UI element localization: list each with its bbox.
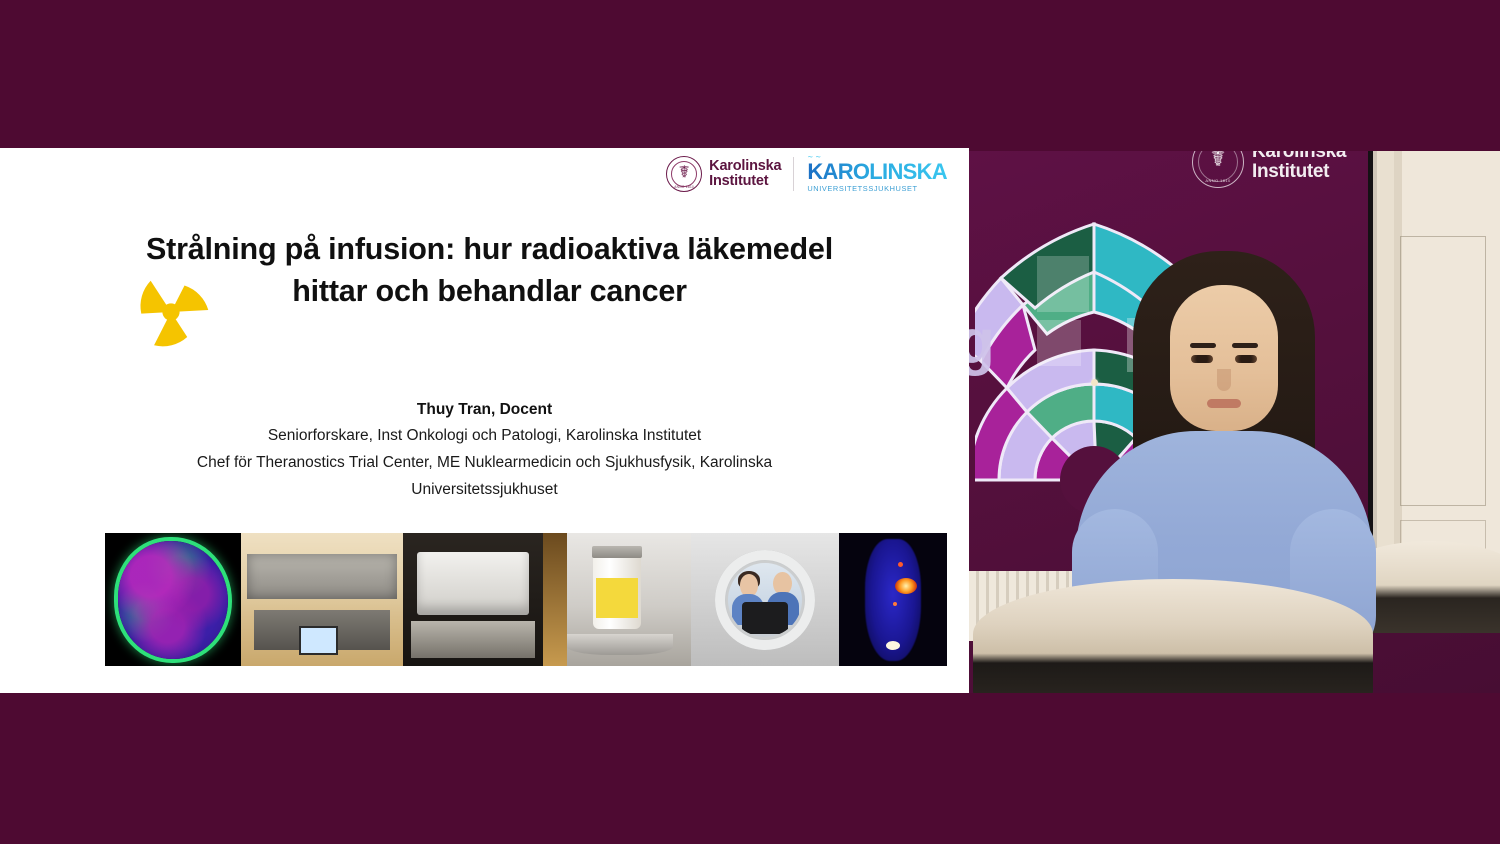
kus-wordmark: KAROLINSKA — [807, 161, 947, 183]
photo-pet-ct-scanner — [691, 533, 839, 666]
speaker-brow-left — [1190, 343, 1216, 348]
slide-logo-bar: ☤ ANNO 1810 Karolinska Institutet ∼∼ KAR… — [666, 152, 947, 196]
presenter-name: Thuy Tran, Docent — [0, 398, 969, 422]
karolinska-institutet-logo: ☤ ANNO 1810 Karolinska Institutet — [666, 156, 793, 192]
lectern-table — [973, 579, 1373, 693]
asclepius-staff-icon: ☤ — [678, 165, 689, 182]
backdrop-partial-word: g — [969, 312, 995, 374]
ki-wordmark-line2: Institutet — [709, 174, 781, 190]
radiation-trefoil-icon — [130, 276, 212, 348]
speaker-lapel-microphone — [1091, 379, 1098, 386]
karolinska-universitetssjukhuset-logo: ∼∼ KAROLINSKA UNIVERSITETSSJUKHUSET — [794, 155, 947, 193]
scanner-bore-inner — [728, 563, 802, 637]
presentation-slide: ☤ ANNO 1810 Karolinska Institutet ∼∼ KAR… — [0, 148, 969, 693]
spheroid-graphic — [118, 541, 228, 659]
backdrop-asclepius-icon: ☤ — [1211, 149, 1226, 171]
photo-pet-whole-body-scan — [839, 533, 947, 666]
studio-door — [1368, 148, 1500, 603]
speaker-video-panel[interactable]: g ☤ ANNO 1810 Karolinska Institutet — [969, 148, 1500, 693]
backdrop-wordmark-line2: Institutet — [1252, 162, 1346, 182]
speaker-face — [1170, 285, 1278, 431]
scanner-detector-graphic — [742, 602, 788, 634]
speaker-mouth — [1207, 399, 1241, 408]
vial-radiation-label — [596, 578, 637, 618]
presenter-block: Thuy Tran, Docent Seniorforskare, Inst O… — [0, 398, 969, 503]
photo-synthesis-module — [403, 533, 543, 666]
photo-radiopharmaceutical-vial — [543, 533, 691, 666]
recording-frame: ☤ ANNO 1810 Karolinska Institutet ∼∼ KAR… — [0, 0, 1500, 844]
ki-wordmark: Karolinska Institutet — [709, 159, 781, 190]
slide-title-line-1: Strålning på infusion: hur radioaktiva l… — [0, 228, 969, 270]
speaker-brow-right — [1232, 343, 1258, 348]
scanner-bore-graphic — [715, 550, 815, 650]
synthesis-module-graphic — [403, 533, 543, 666]
speaker-nose — [1217, 369, 1231, 391]
vial-tray-graphic — [567, 634, 674, 655]
video-top-edge — [969, 148, 1500, 151]
vial-cap-graphic — [592, 546, 642, 558]
lab-monitor-graphic — [299, 626, 338, 655]
seal-anno-text: ANNO 1810 — [667, 185, 701, 189]
ki-wordmark-line1: Karolinska — [709, 159, 781, 175]
door-panel-upper — [1400, 236, 1486, 506]
photo-tumour-spheroid — [105, 533, 241, 666]
backdrop-wordmark: Karolinska Institutet — [1252, 148, 1346, 182]
slide-photo-strip — [105, 533, 947, 666]
speaker-eye-right — [1235, 355, 1257, 363]
presenter-affiliation-1: Seniorforskare, Inst Onkologi och Patolo… — [0, 422, 969, 449]
pet-bladder-uptake — [886, 641, 900, 650]
backdrop-seal-icon: ☤ ANNO 1810 — [1192, 148, 1244, 188]
speaker-eye-left — [1191, 355, 1213, 363]
photo-radiopharmacy-lab — [241, 533, 403, 666]
backdrop-karolinska-logo: ☤ ANNO 1810 Karolinska Institutet — [1192, 148, 1382, 190]
karolinska-seal-icon: ☤ ANNO 1810 — [666, 156, 702, 192]
presenter-affiliation-2: Chef för Theranostics Trial Center, ME N… — [0, 449, 969, 503]
kus-subtitle: UNIVERSITETSSJUKHUSET — [807, 184, 947, 193]
backdrop-seal-anno: ANNO 1810 — [1193, 178, 1243, 183]
